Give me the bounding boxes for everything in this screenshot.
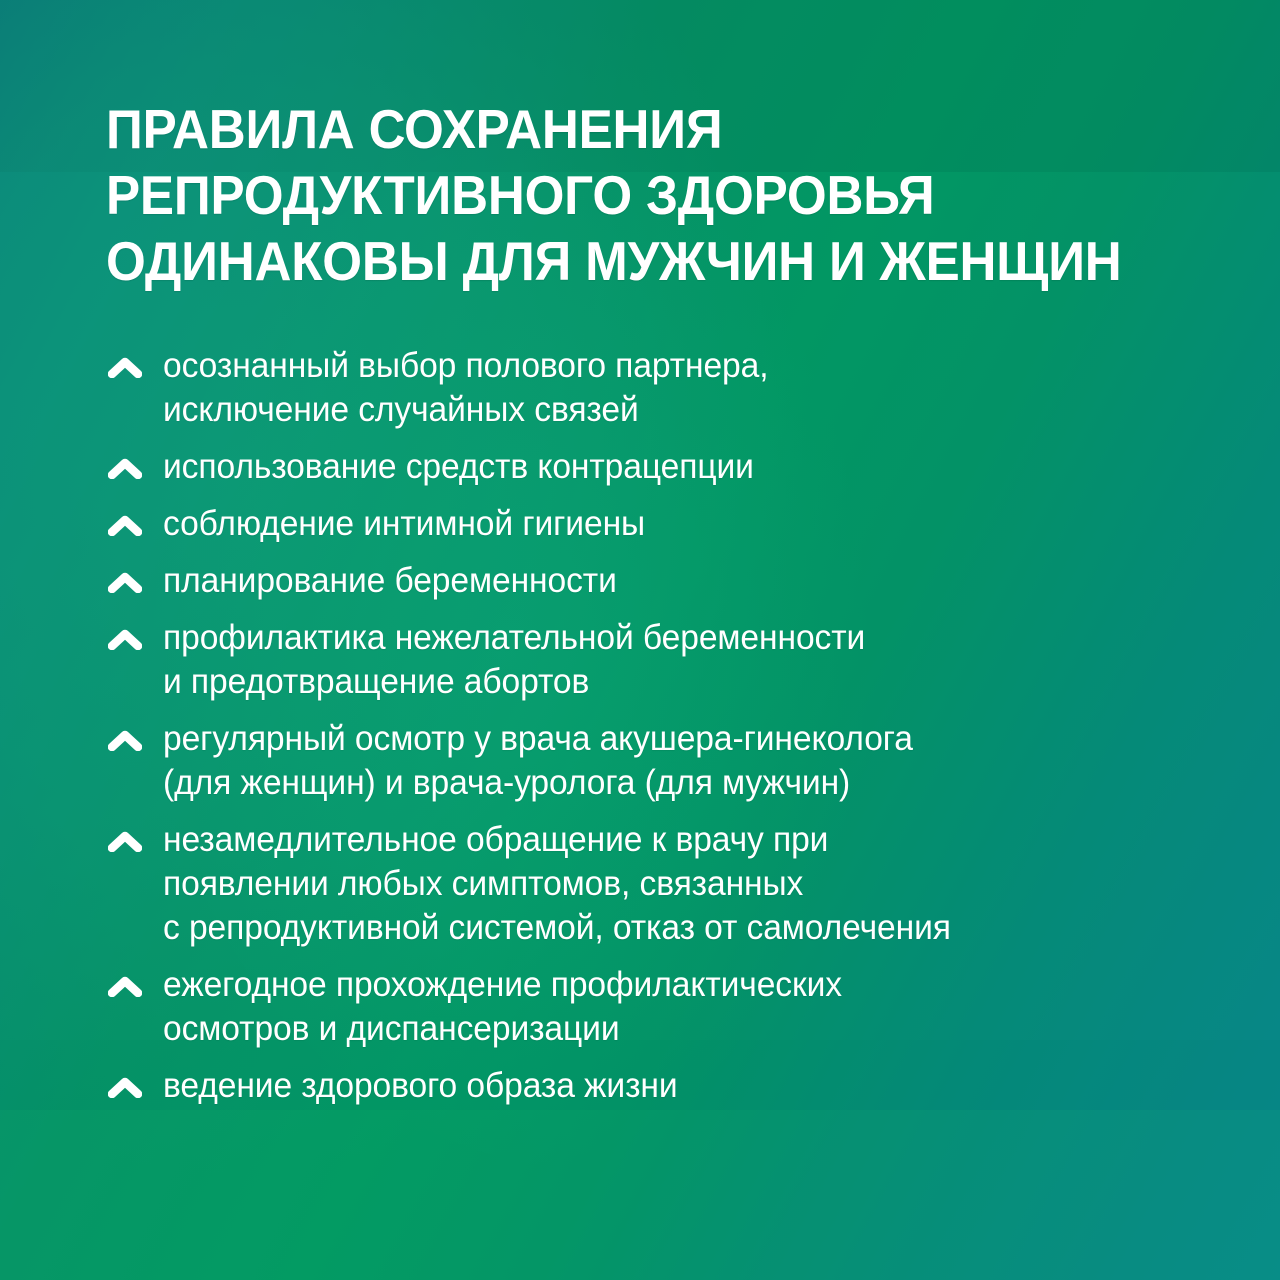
chevron-up-icon [106,616,146,660]
list-item-label: соблюдение интимной гигиены [163,502,645,546]
list-item: профилактика нежелательной беременности … [106,616,1226,704]
list-item: ежегодное прохождение профилактических о… [106,963,1226,1051]
chevron-up-icon [106,818,146,862]
list-item: планирование беременности [106,559,1226,603]
chevron-up-icon [106,445,146,489]
list-item-label: планирование беременности [163,559,617,603]
page-title-line-2: РЕПРОДУКТИВНОГО ЗДОРОВЬЯ [106,162,1138,228]
list-item-label: незамедлительное обращение к врачу при п… [163,818,951,950]
list-item: регулярный осмотр у врача акушера-гинеко… [106,717,1226,805]
infographic-poster: ПРАВИЛА СОХРАНЕНИЯ РЕПРОДУКТИВНОГО ЗДОРО… [0,0,1280,1280]
list-item-label: ведение здорового образа жизни [163,1064,678,1108]
background-band-bottom [0,1110,1280,1280]
list-item-label: регулярный осмотр у врача акушера-гинеко… [163,717,913,805]
list-item: ведение здорового образа жизни [106,1064,1226,1108]
list-item: осознанный выбор полового партнера, искл… [106,344,1226,432]
chevron-up-icon [106,344,146,388]
page-title: ПРАВИЛА СОХРАНЕНИЯ РЕПРОДУКТИВНОГО ЗДОРО… [106,96,1138,294]
list-item-label: профилактика нежелательной беременности … [163,616,865,704]
chevron-up-icon [106,502,146,546]
list-item: незамедлительное обращение к врачу при п… [106,818,1226,950]
list-item: соблюдение интимной гигиены [106,502,1226,546]
list-item-label: использование средств контрацепции [163,445,754,489]
chevron-up-icon [106,963,146,1007]
chevron-up-icon [106,717,146,761]
list-item-label: осознанный выбор полового партнера, искл… [163,344,768,432]
chevron-up-icon [106,559,146,603]
page-title-line-1: ПРАВИЛА СОХРАНЕНИЯ [106,96,1138,162]
rules-list: осознанный выбор полового партнера, искл… [106,344,1226,1121]
list-item-label: ежегодное прохождение профилактических о… [163,963,842,1051]
list-item: использование средств контрацепции [106,445,1226,489]
chevron-up-icon [106,1064,146,1108]
page-title-line-3: ОДИНАКОВЫ ДЛЯ МУЖЧИН И ЖЕНЩИН [106,228,1138,294]
